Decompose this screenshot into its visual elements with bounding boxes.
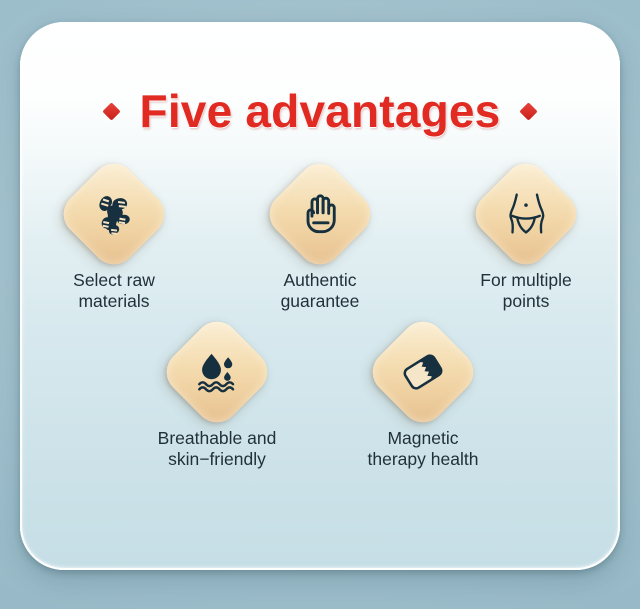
diamond-bullet-left-icon <box>102 102 120 120</box>
badge-diamond <box>364 313 483 432</box>
ginger-root-icon <box>72 172 156 256</box>
features-row-bottom: Breathable and skin−friendly <box>20 330 620 470</box>
poster-canvas: Five advantages <box>0 0 640 609</box>
diamond-bullet-right-icon <box>520 102 538 120</box>
water-drop-waves-icon <box>175 330 259 414</box>
badge-diamond <box>55 155 174 274</box>
hand-palm-icon <box>278 172 362 256</box>
features-row-top: Select raw materials <box>20 172 620 312</box>
feature-authentic-guarantee[interactable]: Authentic guarantee <box>245 172 395 312</box>
feature-select-raw-materials[interactable]: Select raw materials <box>39 172 189 312</box>
feature-caption: Select raw materials <box>73 270 155 312</box>
feature-breathable-skin-friendly[interactable]: Breathable and skin−friendly <box>142 330 292 470</box>
badge-diamond <box>158 313 277 432</box>
feature-for-multiple-points[interactable]: For multiple points <box>451 172 601 312</box>
feature-caption: Breathable and skin−friendly <box>158 428 277 470</box>
badge-diamond <box>261 155 380 274</box>
features-container: Select raw materials <box>20 172 620 470</box>
feature-caption: For multiple points <box>480 270 571 312</box>
feature-magnetic-therapy[interactable]: Magnetic therapy health <box>348 330 498 470</box>
title-row: Five advantages <box>20 84 620 138</box>
advantages-card: Five advantages <box>20 22 620 570</box>
magnet-patch-icon <box>381 330 465 414</box>
badge-diamond <box>467 155 586 274</box>
feature-caption: Magnetic therapy health <box>368 428 479 470</box>
feature-caption: Authentic guarantee <box>281 270 360 312</box>
waist-belly-icon <box>484 172 568 256</box>
page-title: Five advantages <box>140 84 501 138</box>
